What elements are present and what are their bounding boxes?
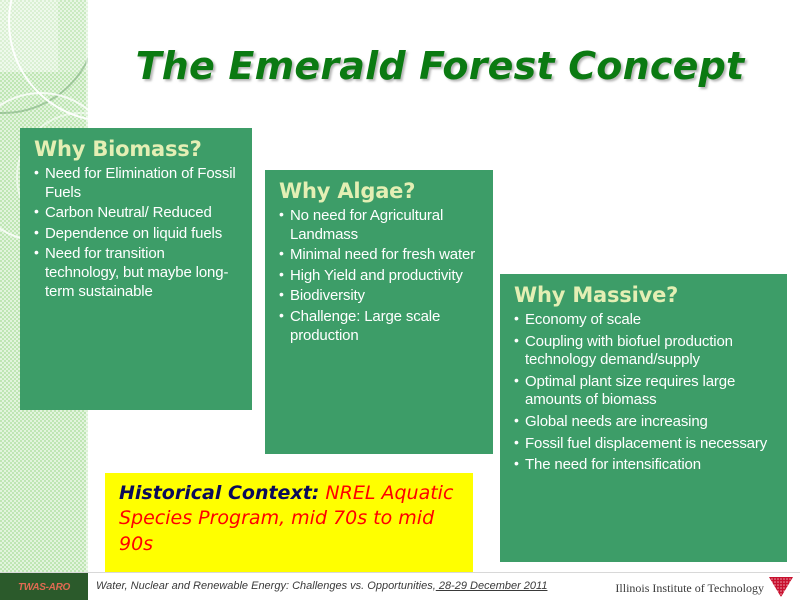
footer-conference-title: Water, Nuclear and Renewable Energy: Cha… xyxy=(96,580,436,592)
list-item: Challenge: Large scale production xyxy=(279,308,479,345)
list-item: Dependence on liquid fuels xyxy=(34,225,238,244)
slide-canvas: The Emerald Forest Concept Why Biomass? … xyxy=(0,0,800,600)
content-box-why-algae: Why Algae? No need for Agricultural Land… xyxy=(265,170,493,454)
footer-conference-date: 28-29 December 2011 xyxy=(436,580,548,592)
bullet-list-why-algae: No need for Agricultural Landmass Minima… xyxy=(279,207,479,345)
footer-conference-text: Water, Nuclear and Renewable Energy: Cha… xyxy=(96,580,547,592)
list-item: Minimal need for fresh water xyxy=(279,246,479,265)
slide-title: The Emerald Forest Concept xyxy=(110,44,770,88)
list-item: Biodiversity xyxy=(279,287,479,306)
box-heading-why-algae: Why Algae? xyxy=(279,180,479,204)
list-item: High Yield and productivity xyxy=(279,267,479,286)
list-item: Optimal plant size requires large amount… xyxy=(514,373,773,410)
list-item: Carbon Neutral/ Reduced xyxy=(34,204,238,223)
bullet-list-why-biomass: Need for Elimination of Fossil Fuels Car… xyxy=(34,165,238,301)
list-item: Coupling with biofuel production technol… xyxy=(514,333,773,370)
list-item: Economy of scale xyxy=(514,311,773,330)
list-item: Fossil fuel displacement is necessary xyxy=(514,435,773,454)
content-box-why-biomass: Why Biomass? Need for Elimination of Fos… xyxy=(20,128,252,410)
content-box-why-massive: Why Massive? Economy of scale Coupling w… xyxy=(500,274,787,562)
bullet-list-why-massive: Economy of scale Coupling with biofuel p… xyxy=(514,311,773,475)
list-item: The need for intensification xyxy=(514,456,773,475)
footer-organization-name: Illinois Institute of Technology xyxy=(615,581,764,596)
box-heading-why-biomass: Why Biomass? xyxy=(34,138,238,162)
footer-bar: TWAS-ARO Water, Nuclear and Renewable En… xyxy=(0,572,800,600)
list-item: Global needs are increasing xyxy=(514,413,773,432)
callout-historical-context: Historical Context: NREL Aquatic Species… xyxy=(105,473,473,572)
list-item: Need for transition technology, but mayb… xyxy=(34,245,238,301)
iit-triangle-logo-icon xyxy=(768,575,794,599)
callout-label: Historical Context: xyxy=(119,482,319,504)
box-heading-why-massive: Why Massive? xyxy=(514,284,773,308)
footer-twas-aro-tag: TWAS-ARO xyxy=(0,573,88,600)
list-item: No need for Agricultural Landmass xyxy=(279,207,479,244)
list-item: Need for Elimination of Fossil Fuels xyxy=(34,165,238,202)
